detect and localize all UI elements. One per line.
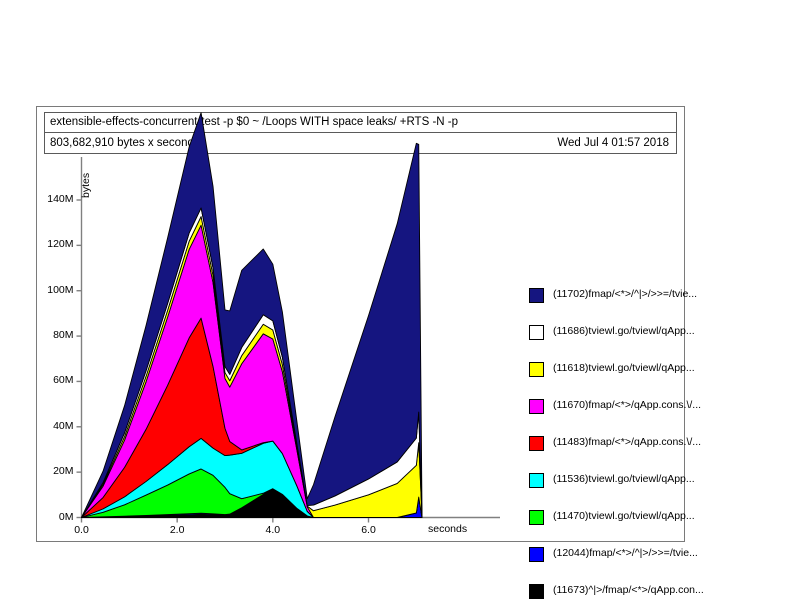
- legend-color-swatch: [529, 584, 544, 599]
- legend-color-swatch: [529, 510, 544, 525]
- legend-label: (11470)tviewl.go/tviewl/qApp...: [553, 509, 695, 524]
- stacked-area-series: [82, 113, 423, 518]
- legend-label: (11686)tviewl.go/tviewl/qApp...: [553, 324, 695, 339]
- legend-row[interactable]: (12044)fmap/<*>/^|>/>>=/tvie...: [529, 546, 719, 583]
- chart-legend: (11702)fmap/<*>/^|>/>>=/tvie...(11686)tv…: [529, 287, 719, 612]
- legend-label: (11483)fmap/<*>/qApp.cons.\/...: [553, 435, 701, 450]
- plot-area: 140M120M100M80M60M40M20M0M 0.02.04.06.0 …: [36, 106, 685, 542]
- legend-color-swatch: [529, 399, 544, 414]
- y-tick-label: 40M: [30, 420, 74, 432]
- legend-label: (11536)tviewl.go/tviewl/qApp...: [553, 472, 695, 487]
- legend-row[interactable]: (11618)tviewl.go/tviewl/qApp...: [529, 361, 719, 398]
- y-tick-label: 60M: [30, 374, 74, 386]
- y-axis-title: bytes: [80, 173, 92, 198]
- legend-row[interactable]: (11483)fmap/<*>/qApp.cons.\/...: [529, 435, 719, 472]
- x-tick-label: 2.0: [154, 524, 200, 536]
- legend-label: (11670)fmap/<*>/qApp.cons.\/...: [553, 398, 701, 413]
- y-tick-label: 0M: [30, 511, 74, 523]
- legend-row[interactable]: (11673)^|>/fmap/<*>/qApp.con...: [529, 583, 719, 612]
- legend-color-swatch: [529, 362, 544, 377]
- y-tick-label: 120M: [30, 238, 74, 250]
- legend-label: (11673)^|>/fmap/<*>/qApp.con...: [553, 583, 704, 598]
- heap-profile-page: { "header": { "title": "extensible-effec…: [0, 0, 792, 612]
- x-axis-ticks: [82, 518, 369, 523]
- legend-row[interactable]: (11470)tviewl.go/tviewl/qApp...: [529, 509, 719, 546]
- x-tick-label: 4.0: [250, 524, 296, 536]
- y-tick-label: 80M: [30, 329, 74, 341]
- legend-color-swatch: [529, 473, 544, 488]
- y-tick-label: 20M: [30, 465, 74, 477]
- legend-row[interactable]: (11536)tviewl.go/tviewl/qApp...: [529, 472, 719, 509]
- legend-label: (11618)tviewl.go/tviewl/qApp...: [553, 361, 695, 376]
- legend-color-swatch: [529, 547, 544, 562]
- x-tick-label: 6.0: [346, 524, 392, 536]
- legend-label: (11702)fmap/<*>/^|>/>>=/tvie...: [553, 287, 697, 302]
- y-tick-label: 140M: [30, 193, 74, 205]
- legend-label: (12044)fmap/<*>/^|>/>>=/tvie...: [553, 546, 698, 561]
- legend-row[interactable]: (11686)tviewl.go/tviewl/qApp...: [529, 324, 719, 361]
- y-axis-ticks: [77, 200, 82, 518]
- legend-color-swatch: [529, 288, 544, 303]
- x-tick-label: 0.0: [59, 524, 105, 536]
- x-axis-title: seconds: [428, 523, 467, 535]
- legend-row[interactable]: (11702)fmap/<*>/^|>/>>=/tvie...: [529, 287, 719, 324]
- legend-color-swatch: [529, 436, 544, 451]
- y-tick-label: 100M: [30, 284, 74, 296]
- legend-color-swatch: [529, 325, 544, 340]
- legend-row[interactable]: (11670)fmap/<*>/qApp.cons.\/...: [529, 398, 719, 435]
